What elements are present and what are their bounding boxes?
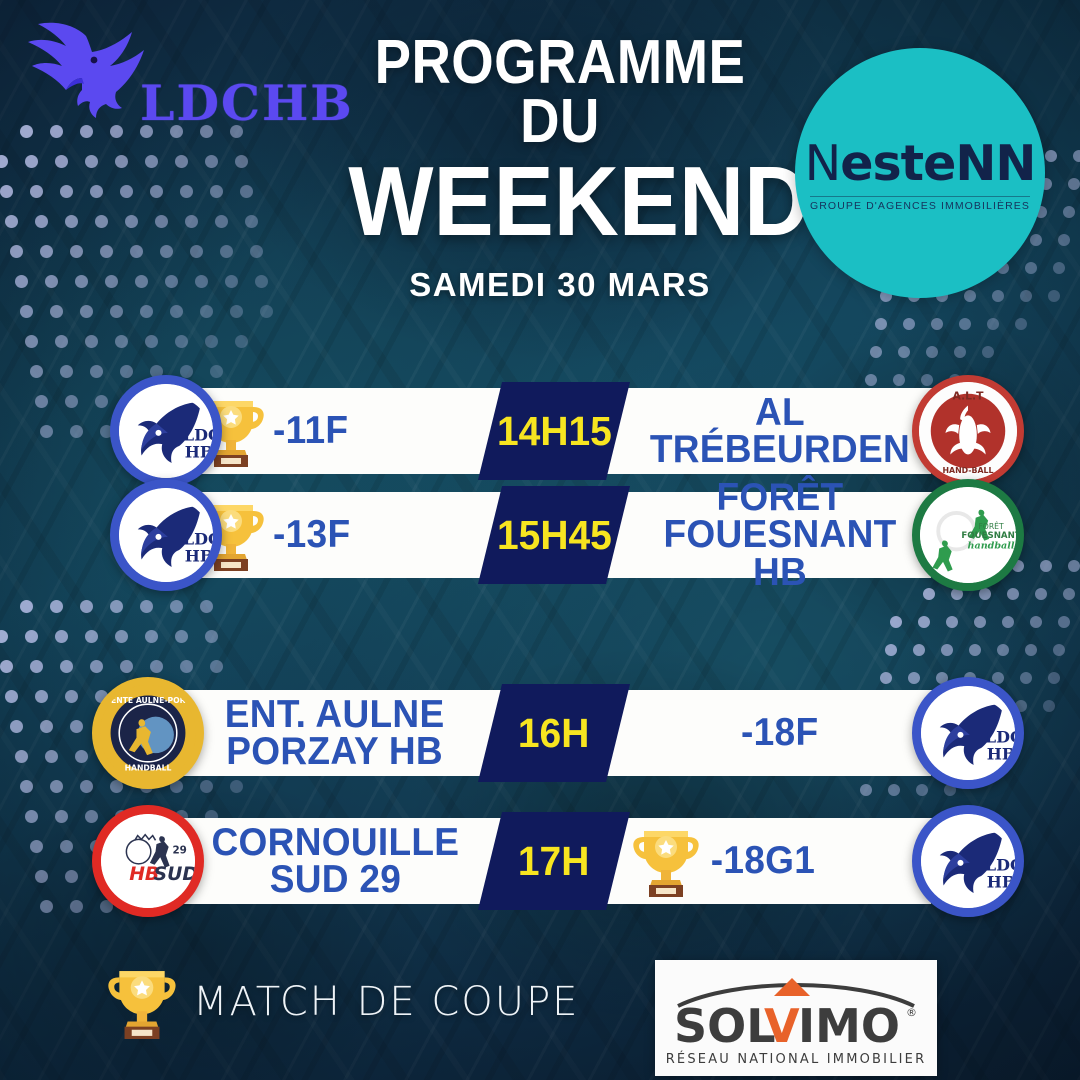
match-category: -13F xyxy=(273,516,350,553)
match-left-side: CORNOUILLE SUD 29 xyxy=(185,818,485,904)
match-time-block: 16H xyxy=(478,684,630,782)
match-time: 15H45 xyxy=(497,512,612,559)
svg-text:HB: HB xyxy=(987,872,1015,891)
match-list: -11F 14H15 AL TRÉBEURDEN LDC HB xyxy=(0,0,1080,1080)
match-right-side: AL TRÉBEURDEN xyxy=(640,388,920,474)
eagle-icon: LDC HB xyxy=(119,485,213,585)
ldchb-crest: LDC HB xyxy=(110,375,222,487)
svg-text:SOL: SOL xyxy=(674,999,776,1053)
match-right-side: FORÊT FOUESNANT HB xyxy=(630,492,930,578)
aulne-porzay-crest: ENTENTE AULNE-PORZAY HANDBALL xyxy=(92,677,204,789)
eagle-icon: LDC HB xyxy=(921,811,1015,911)
lobster-icon: A.L.T HAND-BALL xyxy=(919,381,1017,481)
match-left-side: -11F xyxy=(195,388,445,474)
eagle-icon: LDC HB xyxy=(921,683,1015,783)
match-opponent: CORNOUILLE SUD 29 xyxy=(211,824,459,899)
svg-text:HAND-BALL: HAND-BALL xyxy=(942,466,993,475)
trophy-icon xyxy=(630,823,702,899)
svg-text:HB: HB xyxy=(185,546,213,565)
match-time: 17H xyxy=(518,838,589,885)
match-time: 16H xyxy=(518,710,589,757)
ldchb-crest: LDC HB xyxy=(912,805,1024,917)
handball-player-icon: HB SUD 29 xyxy=(101,811,195,911)
match-left-side: -13F xyxy=(195,492,445,578)
solvimo-wordmark: SOL V IMO ® RÉSEAU NATIONAL IMMOBILIER xyxy=(666,966,926,1070)
al-trebeurden-crest: A.L.T HAND-BALL xyxy=(912,375,1024,487)
ldchb-crest: LDC HB xyxy=(912,677,1024,789)
eagle-icon: LDC HB xyxy=(119,381,213,481)
match-opponent: FORÊT FOUESNANT HB xyxy=(638,479,923,591)
svg-text:handball: handball xyxy=(968,540,1015,551)
svg-text:HB: HB xyxy=(987,744,1015,763)
match-right-side: -18G1 xyxy=(630,818,920,904)
match-time: 14H15 xyxy=(497,408,612,455)
svg-text:V: V xyxy=(764,999,800,1053)
legend-label: MATCH DE COUPE xyxy=(193,979,579,1025)
match-left-side: ENT. AULNE PORZAY HB xyxy=(185,690,485,776)
trophy-icon xyxy=(105,962,179,1042)
foret-fouesnant-crest: FORÊT FOUESNANT handball xyxy=(912,479,1024,591)
svg-text:SUD: SUD xyxy=(154,864,195,885)
poster-canvas: LDCHB PROGRAMME DU WEEKEND SAMEDI 30 MAR… xyxy=(0,0,1080,1080)
match-category: -18G1 xyxy=(711,842,815,879)
sponsor-solvimo-logo: SOL V IMO ® RÉSEAU NATIONAL IMMOBILIER xyxy=(655,960,937,1076)
svg-text:29: 29 xyxy=(172,844,186,856)
match-category: -18F xyxy=(741,714,818,751)
svg-text:HB: HB xyxy=(185,442,213,461)
match-time-block: 14H15 xyxy=(478,382,630,480)
match-right-side: -18F xyxy=(640,690,920,776)
svg-text:ENTENTE AULNE-PORZAY: ENTENTE AULNE-PORZAY xyxy=(100,696,196,705)
ldchb-crest: LDC HB xyxy=(110,479,222,591)
match-category: -11F xyxy=(273,412,348,449)
svg-text:A.L.T: A.L.T xyxy=(953,390,985,403)
match-time-block: 17H xyxy=(478,812,630,910)
svg-text:FOUESNANT: FOUESNANT xyxy=(961,531,1016,541)
match-time-block: 15H45 xyxy=(478,486,630,584)
svg-text:IMO: IMO xyxy=(798,999,900,1053)
legend-cup-match: MATCH DE COUPE xyxy=(105,962,579,1042)
svg-text:®: ® xyxy=(906,1006,917,1019)
svg-text:RÉSEAU NATIONAL IMMOBILIER: RÉSEAU NATIONAL IMMOBILIER xyxy=(666,1051,926,1067)
match-opponent: ENT. AULNE PORZAY HB xyxy=(225,696,445,771)
handball-players-icon: FORÊT FOUESNANT handball xyxy=(920,485,1016,585)
handball-player-icon: ENTENTE AULNE-PORZAY HANDBALL xyxy=(100,683,196,783)
svg-text:HANDBALL: HANDBALL xyxy=(125,763,172,772)
match-opponent: AL TRÉBEURDEN xyxy=(650,394,910,469)
hbsud29-crest: HB SUD 29 xyxy=(92,805,204,917)
svg-text:FORÊT: FORÊT xyxy=(978,522,1004,531)
